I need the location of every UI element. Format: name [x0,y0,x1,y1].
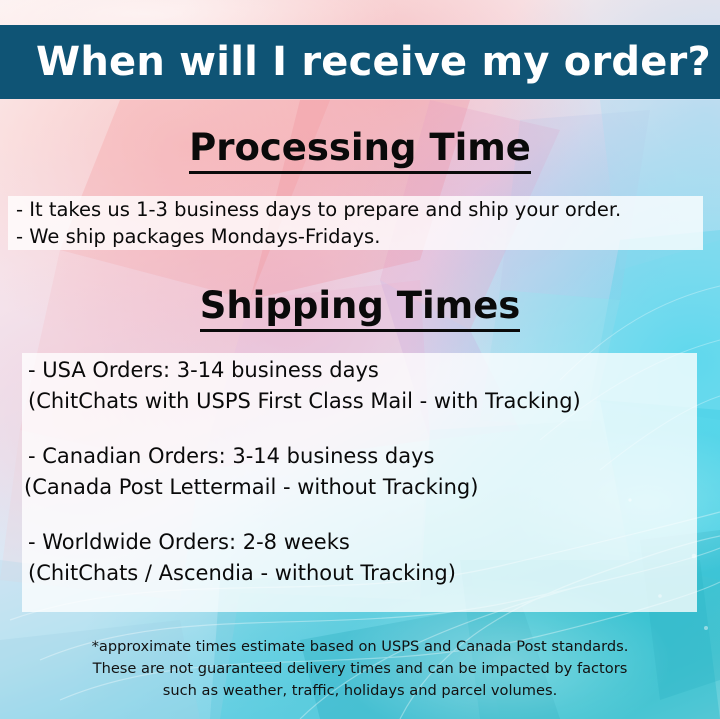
shipping-group-detail: (ChitChats / Ascendia - without Tracking… [22,558,712,589]
processing-time-line: - It takes us 1-3 business days to prepa… [16,196,712,223]
shipping-group-detail: (Canada Post Lettermail - without Tracki… [22,472,712,503]
shipping-group-usa: - USA Orders: 3-14 business days (ChitCh… [22,355,712,417]
header-banner: When will I receive my order? [0,25,720,99]
footnote-disclaimer: *approximate times estimate based on USP… [0,636,720,702]
shipping-group-title: - USA Orders: 3-14 business days [22,355,712,386]
shipping-times-groups: - USA Orders: 3-14 business days (ChitCh… [22,355,712,589]
shipping-group-worldwide: - Worldwide Orders: 2-8 weeks (ChitChats… [22,527,712,589]
section-heading-processing-time-text: Processing Time [189,126,531,174]
processing-time-line: - We ship packages Mondays-Fridays. [16,223,712,250]
section-heading-shipping-times-text: Shipping Times [200,284,521,332]
footnote-line: *approximate times estimate based on USP… [0,636,720,658]
shipping-group-title: - Worldwide Orders: 2-8 weeks [22,527,712,558]
shipping-group-detail: (ChitChats with USPS First Class Mail - … [22,386,712,417]
shipping-group-canada: - Canadian Orders: 3-14 business days (C… [22,441,712,503]
page-title: When will I receive my order? [0,39,711,85]
section-heading-shipping-times: Shipping Times [0,284,720,327]
section-heading-processing-time: Processing Time [0,126,720,169]
footnote-line: such as weather, traffic, holidays and p… [0,680,720,702]
shipping-group-title: - Canadian Orders: 3-14 business days [22,441,712,472]
infographic-canvas: When will I receive my order? Processing… [0,0,720,719]
processing-time-lines: - It takes us 1-3 business days to prepa… [16,196,712,250]
footnote-line: These are not guaranteed delivery times … [0,658,720,680]
